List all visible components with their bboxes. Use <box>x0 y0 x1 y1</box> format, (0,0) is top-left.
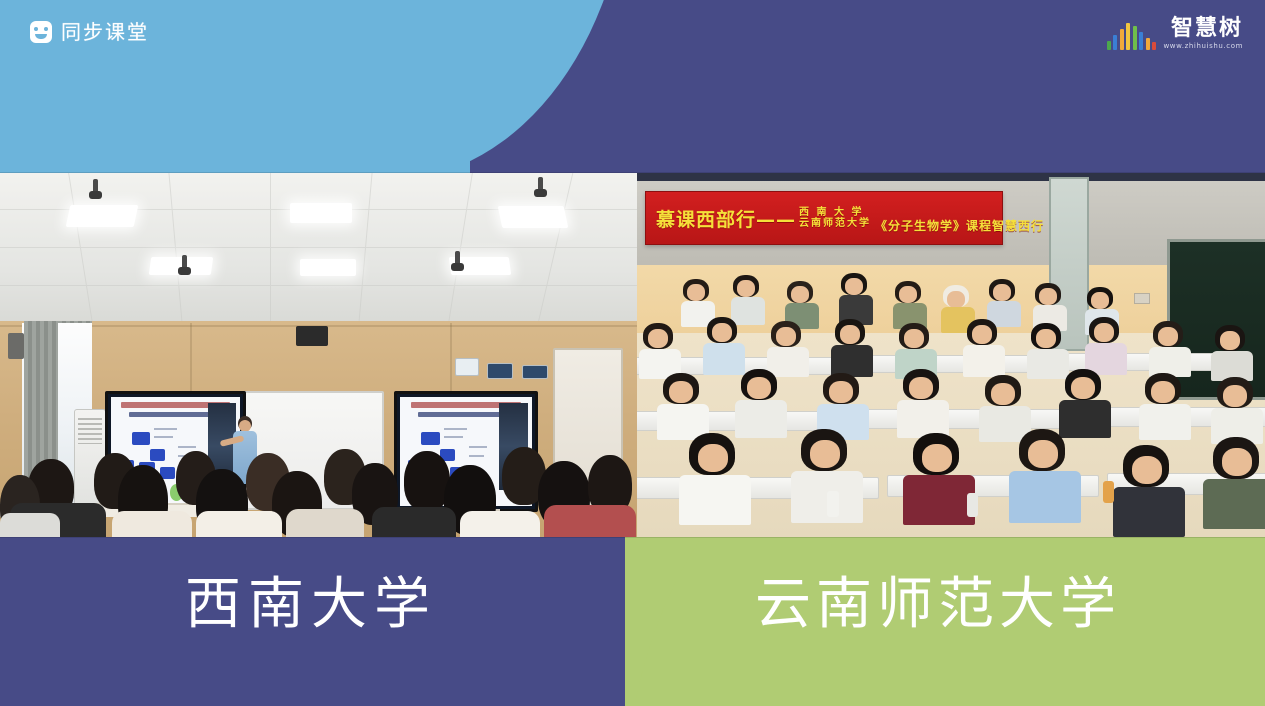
zhihuishu-logo[interactable]: 智慧树 www.zhihuishu.com <box>1107 18 1243 50</box>
banner-main-text: 慕课西部行—— <box>656 205 796 232</box>
ceiling-light <box>66 205 139 227</box>
student <box>741 369 781 433</box>
ceiling-projector <box>538 177 543 193</box>
student <box>913 433 965 521</box>
student <box>663 373 703 435</box>
ceiling-projector <box>182 255 187 271</box>
student <box>733 275 763 323</box>
zhihuishu-url: www.zhihuishu.com <box>1163 43 1243 50</box>
student <box>967 319 1001 373</box>
banner-tail-text: 《分子生物学》课程智慧西行 <box>875 217 1044 234</box>
lecture-hall-students-photo: 慕课西部行—— 西 南 大 学 云南师范大学 《分子生物学》课程智慧西行 <box>637 173 1265 537</box>
student <box>903 369 943 433</box>
zhihuishu-bars-icon <box>1107 22 1157 50</box>
header-bar: 同步课堂 智慧树 www.zhihuishu.com <box>0 0 1265 175</box>
student <box>643 323 677 375</box>
ceiling-projector <box>455 251 460 267</box>
student <box>1065 369 1105 433</box>
ceiling-edge <box>637 173 1265 181</box>
student <box>771 321 805 373</box>
classroom-back-view-photo <box>0 173 637 537</box>
student <box>1019 429 1071 519</box>
student <box>1217 377 1257 439</box>
ceiling-projector <box>93 179 98 195</box>
student <box>689 433 741 519</box>
student <box>707 317 741 371</box>
student <box>823 373 863 435</box>
red-banner: 慕课西部行—— 西 南 大 学 云南师范大学 《分子生物学》课程智慧西行 <box>645 191 1003 245</box>
tongbu-ketang-label: 同步课堂 <box>61 22 149 42</box>
presentation-slide: 同步课堂 智慧树 www.zhihuishu.com <box>0 0 1265 706</box>
wall-panel <box>487 363 513 379</box>
student <box>1215 325 1249 377</box>
student <box>1035 283 1065 327</box>
tongbu-ketang-logo[interactable]: 同步课堂 <box>30 21 149 43</box>
ceiling-light <box>498 206 569 228</box>
student <box>1213 437 1265 525</box>
student-rows <box>637 269 1265 537</box>
student <box>1031 323 1065 375</box>
wall-panel <box>455 358 479 376</box>
wall-panel <box>522 365 548 379</box>
student <box>1145 373 1185 435</box>
zhihuishu-label: 智慧树 <box>1171 18 1243 40</box>
wall-speaker <box>8 333 24 359</box>
smiley-square-icon <box>30 21 52 43</box>
student <box>1089 317 1123 371</box>
student <box>1123 445 1175 531</box>
student <box>841 273 871 323</box>
wall-monitor <box>296 326 328 346</box>
ceiling-light <box>300 259 356 276</box>
banner-line-2: 云南师范大学 <box>799 218 871 230</box>
student <box>835 319 869 373</box>
seated-students <box>0 407 637 537</box>
banner-line-1: 西 南 大 学 <box>799 207 871 219</box>
student <box>1153 321 1187 373</box>
student <box>895 281 925 327</box>
ceiling-light <box>290 203 352 223</box>
photo-strip: 慕课西部行—— 西 南 大 学 云南师范大学 《分子生物学》课程智慧西行 <box>0 173 1265 537</box>
student <box>899 323 933 375</box>
student <box>985 375 1025 437</box>
